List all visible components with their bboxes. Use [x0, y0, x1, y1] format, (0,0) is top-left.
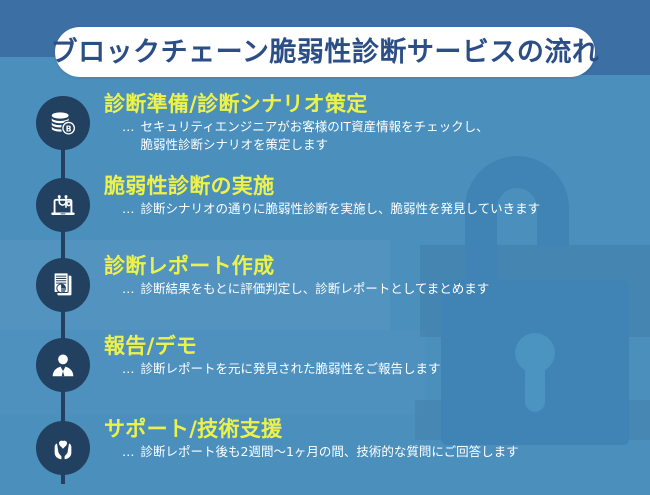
step-title: 診断準備/診断シナリオ策定: [104, 92, 644, 116]
step-description: … セキュリティエンジニアがお客様のIT資産情報をチェックし、 脆弱性診断シナリ…: [104, 118, 644, 154]
step-title: 報告/デモ: [104, 334, 644, 358]
page-title-pill: ブロックチェーン脆弱性診断サービスの流れ: [55, 27, 595, 77]
step-description-text: 診断シナリオの通りに脆弱性診断を実施し、脆弱性を発見していきます: [141, 200, 541, 218]
step-title: 診断レポート作成: [104, 254, 644, 278]
hands-heart-support-icon: [36, 421, 90, 475]
page-title: ブロックチェーン脆弱性診断サービスの流れ: [51, 39, 600, 66]
step-body: 脆弱性診断の実施 … 診断シナリオの通りに脆弱性診断を実施し、脆弱性を発見してい…: [104, 174, 644, 218]
step-title: サポート/技術支援: [104, 417, 644, 441]
step-bullet: …: [122, 200, 135, 218]
process-step: 脆弱性診断の実施 … 診断シナリオの通りに脆弱性診断を実施し、脆弱性を発見してい…: [0, 174, 650, 254]
step-body: 診断レポート作成 … 診断結果をもとに評価判定し、診断レポートとしてまとめます: [104, 254, 644, 298]
step-body: 診断準備/診断シナリオ策定 … セキュリティエンジニアがお客様のIT資産情報をチ…: [104, 92, 644, 154]
process-step: 報告/デモ … 診断レポートを元に発見された脆弱性をご報告します: [0, 334, 650, 414]
step-description-text: 診断レポート後も2週間〜1ヶ月の間、技術的な質問にご回答します: [141, 443, 519, 461]
step-description: … 診断レポートを元に発見された脆弱性をご報告します: [104, 360, 644, 378]
step-bullet: …: [122, 280, 135, 298]
step-body: 報告/デモ … 診断レポートを元に発見された脆弱性をご報告します: [104, 334, 644, 378]
svg-text:B: B: [66, 124, 72, 133]
step-description-text: 診断結果をもとに評価判定し、診断レポートとしてまとめます: [141, 280, 490, 298]
step-body: サポート/技術支援 … 診断レポート後も2週間〜1ヶ月の間、技術的な質問にご回答…: [104, 417, 644, 461]
infographic-slide: ブロックチェーン脆弱性診断サービスの流れ B: [0, 0, 650, 495]
coin-stack-bitcoin-icon: B: [36, 96, 90, 150]
laptop-stethoscope-icon: [36, 178, 90, 232]
step-bullet: …: [122, 360, 135, 378]
person-presenter-icon: [36, 338, 90, 392]
step-description: … 診断レポート後も2週間〜1ヶ月の間、技術的な質問にご回答します: [104, 443, 644, 461]
process-step: B 診断準備/診断シナリオ策定 … セキュリティエンジニアがお客様のIT資産情報…: [0, 92, 650, 172]
process-step: 診断レポート作成 … 診断結果をもとに評価判定し、診断レポートとしてまとめます: [0, 254, 650, 334]
step-description-text: セキュリティエンジニアがお客様のIT資産情報をチェックし、 脆弱性診断シナリオを…: [141, 118, 489, 154]
step-description: … 診断結果をもとに評価判定し、診断レポートとしてまとめます: [104, 280, 644, 298]
step-description-text: 診断レポートを元に発見された脆弱性をご報告します: [141, 360, 441, 378]
step-description: … 診断シナリオの通りに脆弱性診断を実施し、脆弱性を発見していきます: [104, 200, 644, 218]
step-bullet: …: [122, 443, 135, 461]
step-bullet: …: [122, 118, 135, 136]
step-title: 脆弱性診断の実施: [104, 174, 644, 198]
process-step: サポート/技術支援 … 診断レポート後も2週間〜1ヶ月の間、技術的な質問にご回答…: [0, 417, 650, 495]
process-timeline: B 診断準備/診断シナリオ策定 … セキュリティエンジニアがお客様のIT資産情報…: [0, 92, 650, 495]
report-document-chart-icon: [36, 258, 90, 312]
